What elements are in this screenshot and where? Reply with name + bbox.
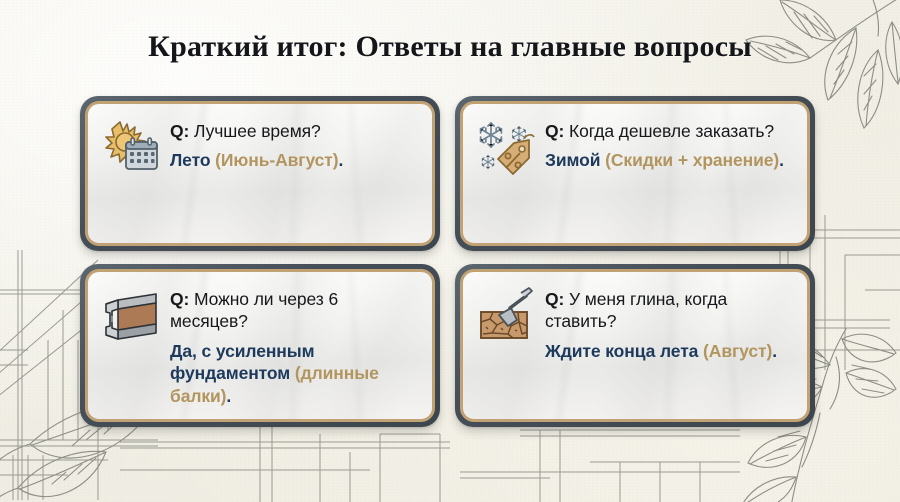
faq-card-cheapest-order[interactable]: Q: Когда дешевле заказать? Зимой (Скидки…: [455, 96, 815, 251]
answer-line: Лето (Июнь-Август).: [170, 149, 420, 171]
question-prefix: Q:: [170, 289, 189, 309]
answer-end: .: [772, 341, 777, 361]
card-text: Q: Можно ли через 6 месяцев? Да, с усиле…: [170, 284, 420, 407]
answer-line: Ждите конца лета (Август).: [545, 340, 795, 362]
answer-end: .: [226, 386, 231, 406]
question-text: Когда дешевле заказать?: [564, 121, 774, 141]
answer-end: .: [779, 150, 784, 170]
answer-paren: (Июнь-Август): [210, 150, 338, 170]
question-text: У меня глина, когда ставить?: [545, 289, 727, 331]
answer-main: Лето: [170, 150, 210, 170]
answer-paren: (Скидки + хранение): [600, 150, 779, 170]
sun-calendar-icon: [100, 118, 162, 180]
question-line: Q: Когда дешевле заказать?: [545, 120, 795, 142]
faq-card-grid: Q: Лучшее время? Лето (Июнь-Август).: [80, 96, 820, 427]
page-title: Краткий итог: Ответы на главные вопросы: [0, 30, 900, 64]
answer-line: Да, с усиленным фундаментом (длинные бал…: [170, 340, 420, 407]
faq-card-six-months[interactable]: Q: Можно ли через 6 месяцев? Да, с усиле…: [80, 264, 440, 427]
snowflake-discount-tag-icon: [475, 118, 537, 180]
steel-i-beam-icon: [100, 286, 162, 348]
question-text: Можно ли через 6 месяцев?: [170, 289, 338, 331]
question-prefix: Q:: [545, 121, 564, 141]
answer-paren: (Август): [698, 341, 772, 361]
question-prefix: Q:: [170, 121, 189, 141]
card-text: Q: Лучшее время? Лето (Июнь-Август).: [170, 116, 420, 172]
answer-line: Зимой (Скидки + хранение).: [545, 149, 795, 171]
question-line: Q: Лучшее время?: [170, 120, 420, 142]
shovel-clay-soil-icon: [475, 286, 537, 348]
answer-end: .: [339, 150, 344, 170]
slide-root: Краткий итог: Ответы на главные вопросы: [0, 0, 900, 502]
question-line: Q: Можно ли через 6 месяцев?: [170, 288, 420, 333]
question-text: Лучшее время?: [189, 121, 320, 141]
faq-card-clay-soil[interactable]: Q: У меня глина, когда ставить? Ждите ко…: [455, 264, 815, 427]
question-line: Q: У меня глина, когда ставить?: [545, 288, 795, 333]
faq-card-best-time[interactable]: Q: Лучшее время? Лето (Июнь-Август).: [80, 96, 440, 251]
card-text: Q: У меня глина, когда ставить? Ждите ко…: [545, 284, 795, 362]
question-prefix: Q:: [545, 289, 564, 309]
answer-main: Зимой: [545, 150, 600, 170]
card-text: Q: Когда дешевле заказать? Зимой (Скидки…: [545, 116, 795, 172]
answer-main: Ждите конца лета: [545, 341, 698, 361]
